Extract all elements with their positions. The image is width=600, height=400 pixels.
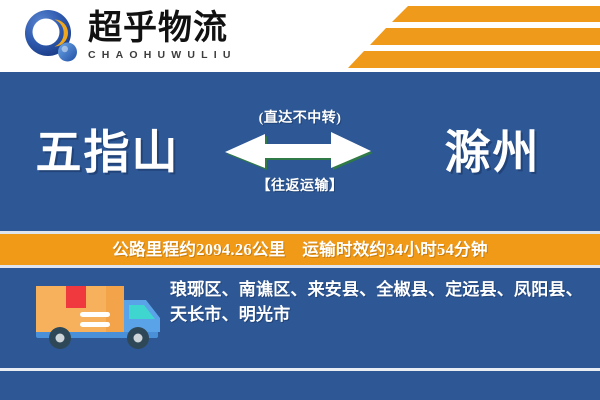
brand-wordmark: 超乎物流 CHAOHUWULIU bbox=[88, 11, 237, 64]
origin-city: 五指山 bbox=[0, 127, 215, 179]
coverage-section: 琅琊区、南谯区、来安县、全椒县、定远县、凤阳县、天长市、明光市 bbox=[0, 268, 600, 358]
brand-logo[interactable]: 超乎物流 CHAOHUWULIU bbox=[22, 8, 237, 66]
footer-band bbox=[0, 371, 600, 400]
brand-name-en: CHAOHUWULIU bbox=[88, 48, 237, 62]
logistics-route-banner: 超乎物流 CHAOHUWULIU 五指山 (直达不中转) bbox=[0, 0, 600, 400]
direct-shipping-note: (直达不中转) bbox=[259, 110, 342, 128]
brand-name-cn: 超乎物流 bbox=[88, 11, 237, 47]
route-arrow-group: (直达不中转) 【往返运输】 bbox=[215, 110, 385, 196]
metrics-bar: 公路里程约2094.26公里 运输时效约34小时54分钟 bbox=[0, 234, 600, 265]
circle-crescent-logo-icon bbox=[22, 8, 80, 66]
roundtrip-note: 【往返运输】 bbox=[257, 178, 344, 196]
coverage-areas-text: 琅琊区、南谯区、来安县、全椒县、定远县、凤阳县、天长市、明光市 bbox=[170, 277, 585, 327]
delivery-truck-icon bbox=[28, 276, 168, 354]
metrics-text: 公路里程约2094.26公里 运输时效约34小时54分钟 bbox=[112, 240, 488, 260]
destination-city: 滁州 bbox=[385, 127, 600, 179]
brand-header: 超乎物流 CHAOHUWULIU bbox=[0, 0, 600, 72]
route-panel: 五指山 (直达不中转) 【往返运输】 滁州 bbox=[0, 75, 600, 231]
double-headed-arrow-icon bbox=[225, 130, 375, 175]
orange-speed-stripes-icon bbox=[330, 6, 600, 68]
